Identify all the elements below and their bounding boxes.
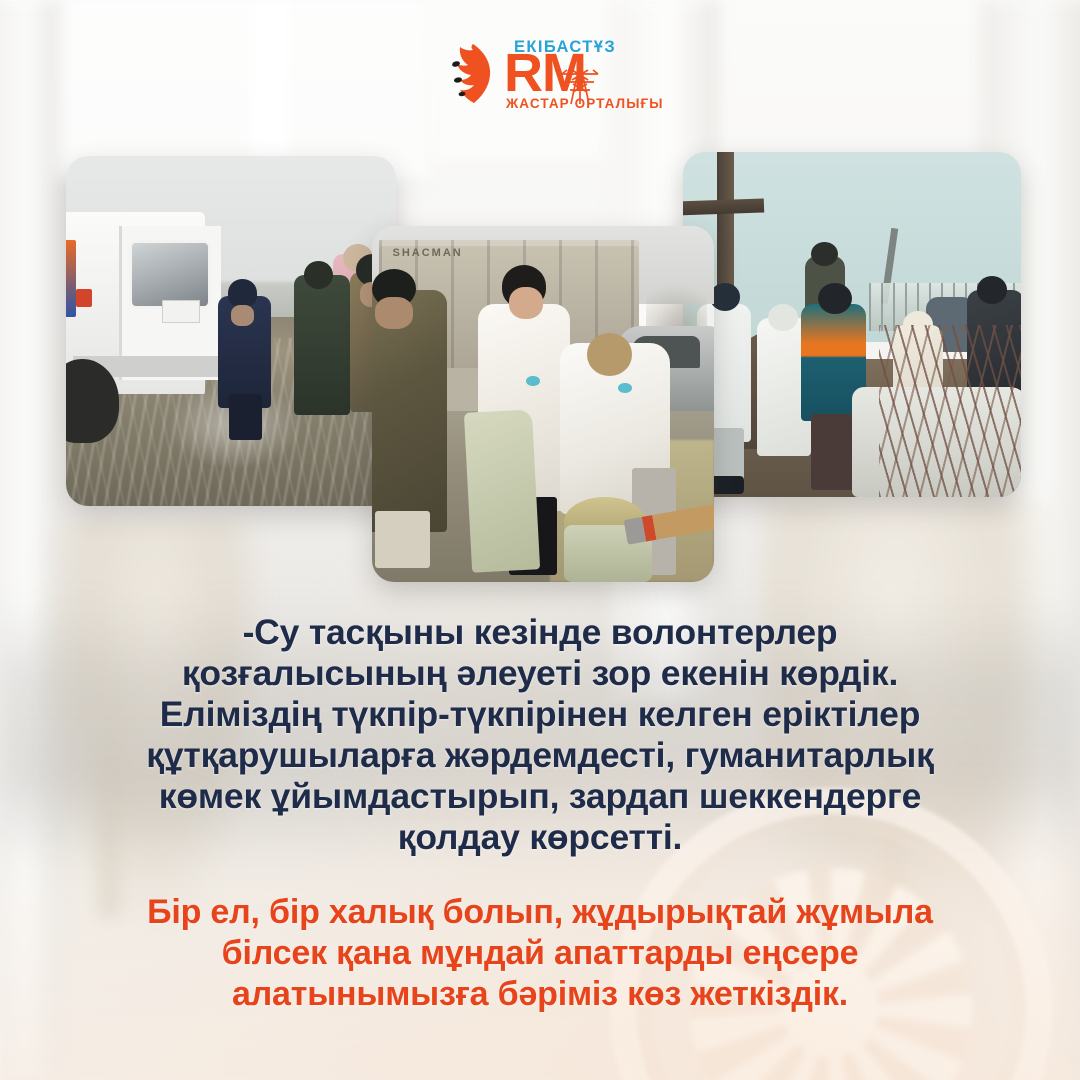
photo-collage: SHACMAN: [0, 0, 1080, 600]
headline-line: көмек ұйымдастырып, зардап шеккендерге: [48, 776, 1032, 817]
truck-brand-text: SHACMAN: [393, 247, 463, 259]
subline-line: алатынымызға бәріміз көз жеткіздік.: [48, 974, 1032, 1015]
photo-sandbag-volunteers: SHACMAN: [372, 226, 714, 582]
subline-line: Бір ел, бір халық болып, жұдырықтай жұмы…: [48, 892, 1032, 933]
photo-flood-rescue: [66, 156, 396, 506]
subline-line: білсек қана мұндай апаттарды еңсере: [48, 933, 1032, 974]
headline-line: қозғалысының әлеуеті зор екенін көрдік.: [48, 653, 1032, 694]
caption-block: -Су тасқыны кезінде волонтерлер қозғалыс…: [0, 612, 1080, 1015]
headline-line: Еліміздің түкпір-түкпірінен келген ерікт…: [48, 694, 1032, 735]
headline-text: -Су тасқыны кезінде волонтерлер қозғалыс…: [48, 612, 1032, 858]
social-post-canvas: ЕКІБАСТҰЗ RM ЖАСТАР ОРТАЛЫҒЫ: [0, 0, 1080, 1080]
subline-text: Бір ел, бір халық болып, жұдырықтай жұмы…: [48, 892, 1032, 1015]
headline-line: құтқарушыларға жәрдемдесті, гуманитарлық: [48, 735, 1032, 776]
headline-line: -Су тасқыны кезінде волонтерлер: [48, 612, 1032, 653]
photo-levee-crew: [683, 152, 1021, 497]
headline-line: қолдау көрсетті.: [48, 817, 1032, 858]
